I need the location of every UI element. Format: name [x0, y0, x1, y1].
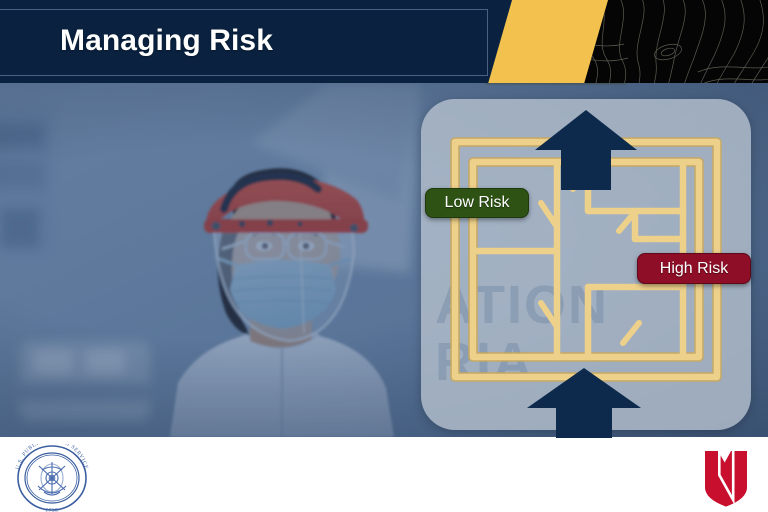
high-risk-label: High Risk — [660, 260, 728, 278]
svg-text:· 1798 ·: · 1798 · — [40, 506, 64, 512]
slide-header: Managing Risk — [0, 0, 768, 83]
low-risk-badge: Low Risk — [425, 188, 529, 218]
page-title: Managing Risk — [60, 24, 273, 58]
us-public-health-service-seal: U.S. PUBLIC HEALTH SERVICE · 1798 · — [8, 444, 96, 512]
low-risk-label: Low Risk — [445, 194, 510, 212]
enter-arrow — [527, 368, 641, 438]
nebraska-n-shield-logo — [697, 449, 755, 507]
high-risk-badge: High Risk — [637, 253, 751, 284]
slide-footer — [0, 437, 768, 512]
slide-root: ATIONRIA — [0, 0, 768, 512]
footer-divider — [0, 437, 768, 439]
exit-arrow — [535, 110, 637, 190]
